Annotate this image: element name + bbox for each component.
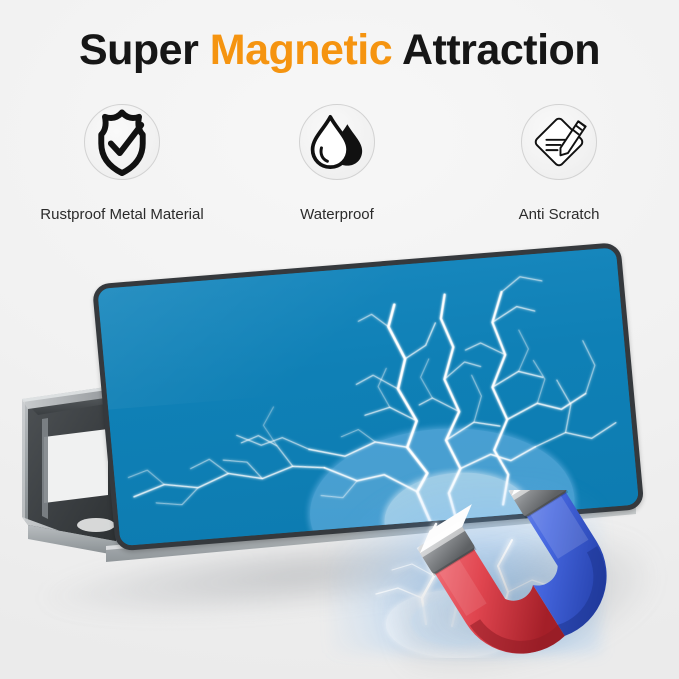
horseshoe-magnet	[398, 490, 668, 675]
feature-list: Rustproof Metal Material Waterproof	[0, 104, 679, 234]
feature-label: Rustproof Metal Material	[22, 206, 222, 223]
title-prefix: Super	[79, 26, 210, 74]
feature-icon-circle	[521, 104, 597, 180]
water-droplets-icon	[300, 105, 374, 179]
title-suffix: Attraction	[392, 26, 600, 74]
feature-icon-circle	[84, 104, 160, 180]
feature-label: Anti Scratch	[468, 206, 650, 223]
title-highlight: Magnetic	[210, 26, 392, 74]
shield-check-icon	[85, 105, 159, 179]
feature-label: Waterproof	[247, 206, 427, 223]
product-scene	[0, 250, 679, 679]
product-marketing-image: Super Magnetic Attraction Rustproof Meta…	[0, 0, 679, 679]
feature-item-anti-scratch: Anti Scratch	[468, 104, 650, 223]
page-title: Super Magnetic Attraction	[0, 26, 679, 75]
feature-icon-circle	[299, 104, 375, 180]
feature-item-rustproof: Rustproof Metal Material	[22, 104, 222, 223]
scratch-resistant-plate-icon	[522, 105, 596, 179]
feature-item-waterproof: Waterproof	[247, 104, 427, 223]
